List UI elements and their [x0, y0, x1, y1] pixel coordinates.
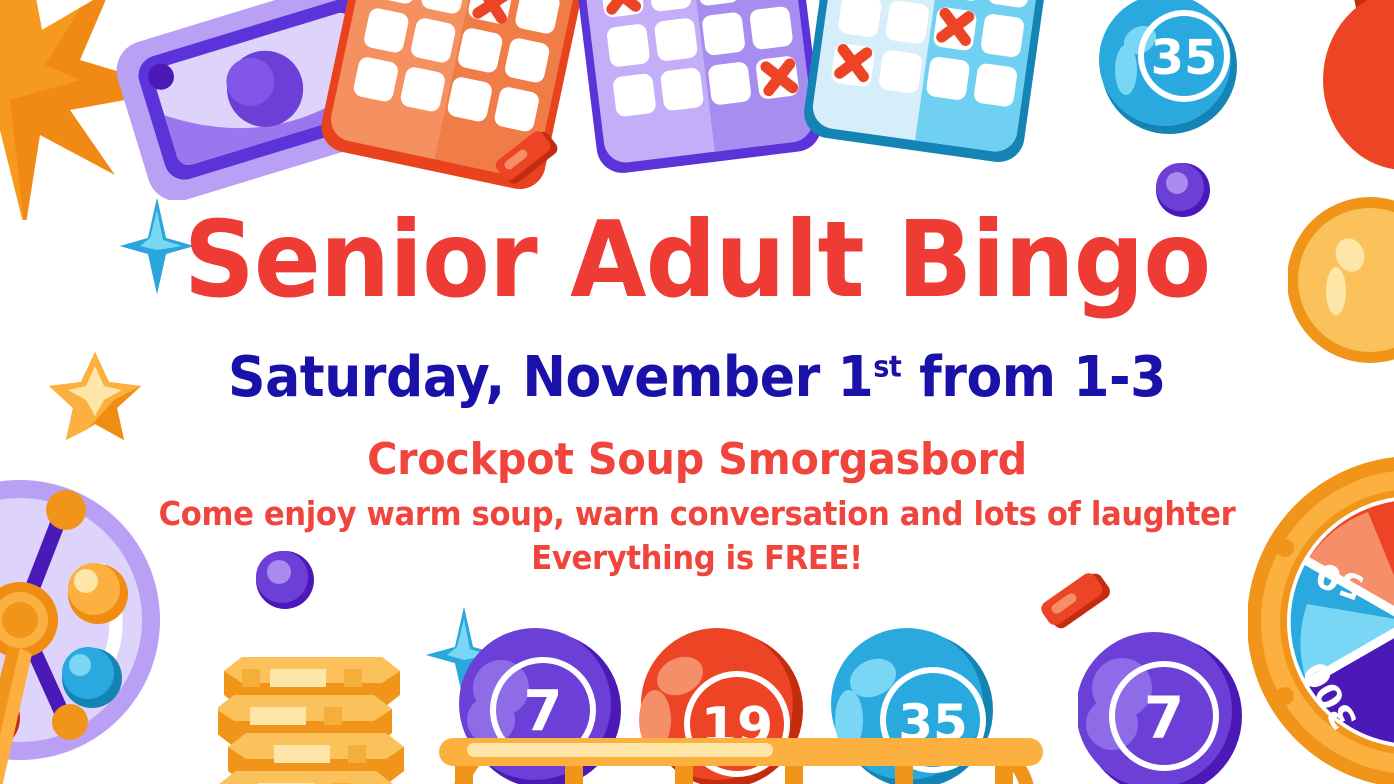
gold-coin-stack-icon: [218, 645, 408, 784]
ball-7-bottom-far-right: 7: [1078, 632, 1243, 784]
svg-text:7: 7: [524, 679, 563, 744]
event-description-line: Come enjoy warm soup, warn conversation …: [49, 494, 1345, 533]
bingo-flyer: 35: [0, 0, 1394, 784]
svg-text:7: 7: [1144, 684, 1184, 752]
red-chip-icon: [495, 128, 565, 188]
ordinal-suffix: st: [873, 349, 901, 383]
bottom-ball-rack: 7 19 35: [425, 628, 1055, 784]
event-date-prefix: Saturday, November 1: [228, 345, 873, 410]
event-free-line: Everything is FREE!: [49, 538, 1345, 577]
event-theme-line: Crockpot Soup Smorgasbord: [42, 434, 1352, 485]
red-chip-bottom-icon: [1040, 568, 1120, 636]
blue-bingo-card-icon: [800, 0, 1070, 170]
event-time-suffix: from 1-3: [901, 345, 1166, 410]
gift-bag-icon: [1295, 0, 1394, 195]
svg-text:35: 35: [1151, 30, 1218, 86]
ball-35-top-right: 35: [1095, 0, 1247, 140]
page-title: Senior Adult Bingo: [42, 205, 1352, 315]
event-date-line: Saturday, November 1st from 1-3: [49, 345, 1345, 410]
